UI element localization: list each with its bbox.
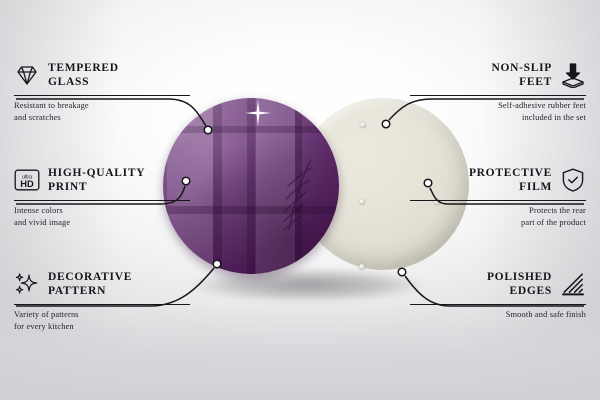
feature-header: PROTECTIVE FILM: [410, 163, 586, 197]
shield-check-icon: [560, 167, 586, 193]
feature-description: Smooth and safe finish: [410, 309, 586, 321]
feature-title: HIGH-QUALITY PRINT: [48, 166, 145, 195]
feature-polished-edges: POLISHED EDGES Smooth and safe finish: [410, 267, 586, 321]
feature-title: POLISHED EDGES: [487, 270, 552, 299]
feature-title: DECORATIVE PATTERN: [48, 270, 132, 299]
feature-divider: [410, 95, 586, 96]
feature-decorative-pattern: DECORATIVE PATTERN Variety of patterns f…: [14, 267, 190, 333]
feature-high-quality-print: ultra HD HIGH-QUALITY PRINT Intense colo…: [14, 163, 190, 229]
rubber-foot: [360, 122, 366, 128]
feature-divider: [410, 200, 586, 201]
feature-title: TEMPERED GLASS: [48, 61, 119, 90]
feature-divider: [14, 200, 190, 201]
rubber-foot: [359, 264, 365, 270]
ultra-hd-icon-large-text: HD: [20, 178, 34, 189]
feature-description: Protects the rear part of the product: [410, 205, 586, 229]
infographic-canvas: TEMPERED GLASS Resistant to breakage and…: [0, 0, 600, 400]
ultra-hd-icon: ultra HD: [14, 167, 40, 193]
feature-protective-film: PROTECTIVE FILM Protects the rear part o…: [410, 163, 586, 229]
feature-description: Intense colors and vivid image: [14, 205, 190, 229]
rubber-foot: [359, 199, 365, 205]
sparkles-icon: [14, 271, 40, 297]
feature-title: NON-SLIP FEET: [491, 61, 552, 90]
feature-title: PROTECTIVE FILM: [469, 166, 552, 195]
feature-header: DECORATIVE PATTERN: [14, 267, 190, 301]
feature-non-slip-feet: NON-SLIP FEET Self-adhesive rubber feet …: [410, 58, 586, 124]
feature-description: Variety of patterns for every kitchen: [14, 309, 190, 333]
feature-header: TEMPERED GLASS: [14, 58, 190, 92]
feature-description: Resistant to breakage and scratches: [14, 100, 190, 124]
feature-divider: [410, 304, 586, 305]
feature-divider: [14, 95, 190, 96]
feature-description: Self-adhesive rubber feet included in th…: [410, 100, 586, 124]
feature-header: ultra HD HIGH-QUALITY PRINT: [14, 163, 190, 197]
feature-header: POLISHED EDGES: [410, 267, 586, 301]
polished-edge-icon: [560, 271, 586, 297]
diamond-icon: [14, 62, 40, 88]
feature-tempered-glass: TEMPERED GLASS Resistant to breakage and…: [14, 58, 190, 124]
press-down-pad-icon: [560, 62, 586, 88]
feature-divider: [14, 304, 190, 305]
feature-header: NON-SLIP FEET: [410, 58, 586, 92]
